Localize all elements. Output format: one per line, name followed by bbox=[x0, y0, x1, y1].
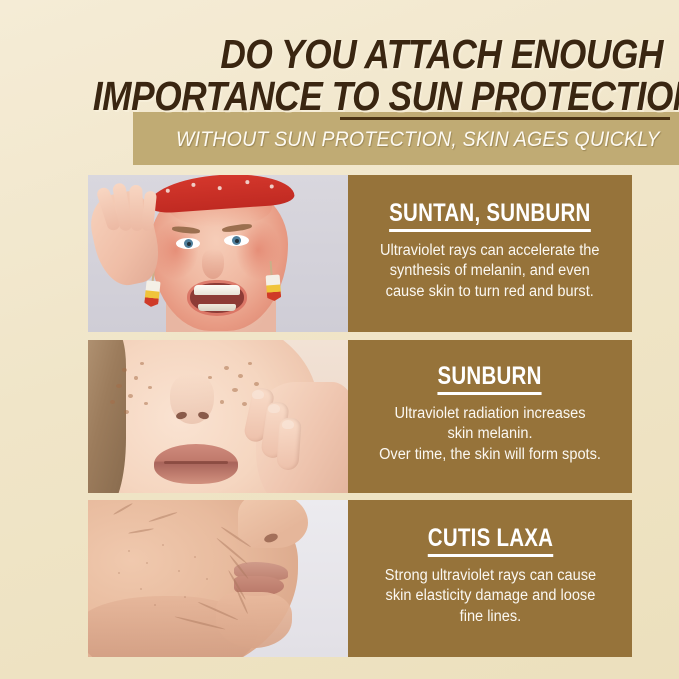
photo-sunburned-woman bbox=[88, 175, 348, 332]
card-panel-3: CUTIS LAXA Strong ultraviolet rays can c… bbox=[348, 500, 632, 657]
card-body-3: Strong ultraviolet rays can cause skin e… bbox=[384, 566, 595, 628]
subtitle: WITHOUT SUN PROTECTION, SKIN AGES QUICKL… bbox=[171, 128, 669, 152]
title-line-1: DO YOU ATTACH ENOUGH bbox=[93, 34, 663, 74]
card-heading-3: CUTIS LAXA bbox=[427, 525, 552, 556]
infographic-poster: DO YOU ATTACH ENOUGH IMPORTANCE TO SUN P… bbox=[0, 0, 679, 679]
title-divider-rule bbox=[340, 117, 670, 120]
card-body-1: Ultraviolet rays can accelerate the synt… bbox=[380, 241, 599, 303]
card-heading-1: SUNTAN, SUNBURN bbox=[389, 200, 590, 231]
card-heading-2: SUNBURN bbox=[438, 363, 542, 394]
info-card-cutis-laxa: CUTIS LAXA Strong ultraviolet rays can c… bbox=[88, 500, 632, 657]
earring-right-icon bbox=[265, 261, 282, 302]
info-card-suntan-sunburn: SUNTAN, SUNBURN Ultraviolet rays can acc… bbox=[88, 175, 632, 332]
page-title: DO YOU ATTACH ENOUGH IMPORTANCE TO SUN P… bbox=[0, 34, 679, 116]
card-panel-2: SUNBURN Ultraviolet radiation increases … bbox=[348, 340, 632, 493]
card-body-2: Ultraviolet radiation increases skin mel… bbox=[379, 404, 601, 466]
card-panel-1: SUNTAN, SUNBURN Ultraviolet rays can acc… bbox=[348, 175, 632, 332]
title-line-2: IMPORTANCE TO SUN PROTECTION? bbox=[93, 76, 663, 116]
photo-freckled-cheek bbox=[88, 340, 348, 493]
photo-wrinkled-jaw bbox=[88, 500, 348, 657]
info-card-sunburn: SUNBURN Ultraviolet radiation increases … bbox=[88, 340, 632, 493]
